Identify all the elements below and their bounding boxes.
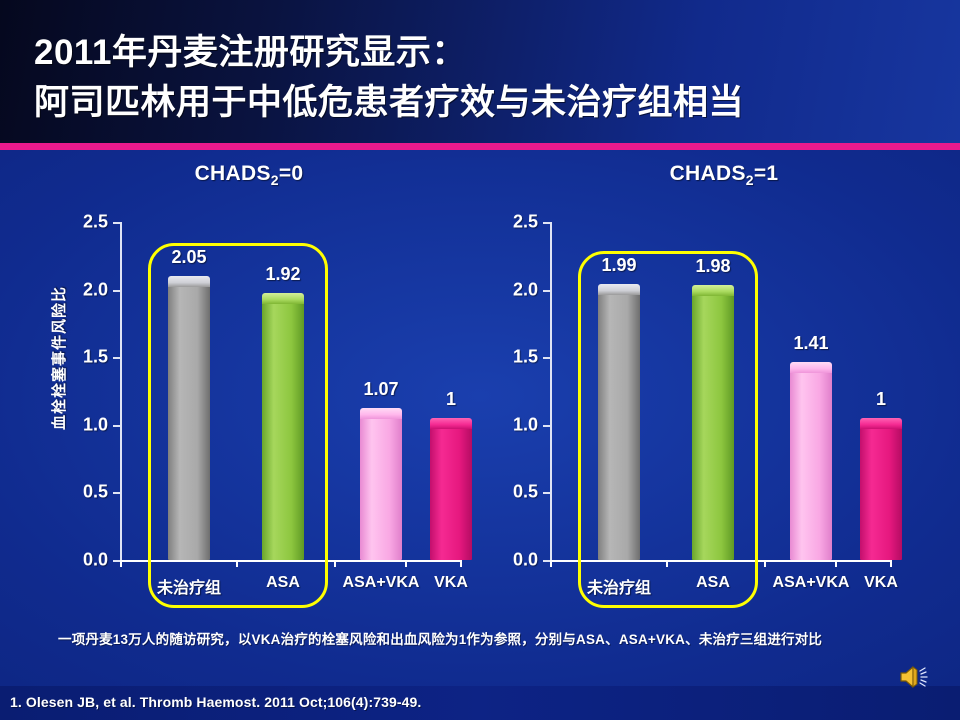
x-axis-tick [120,560,122,567]
x-axis-tick [236,560,238,567]
bar-cap [790,362,832,373]
y-axis-tick [543,560,550,562]
x-axis-line [550,560,890,562]
y-axis-tick-label: 0.0 [513,550,538,571]
x-axis-tick [460,560,462,567]
y-axis-tick-label: 0.5 [513,482,538,503]
chart-panel-chads0: CHADS2=0 血栓栓塞事件风险比 0.00.51.01.52.02.52.0… [10,150,488,625]
bar-cap [430,418,472,429]
y-axis-tick-label: 2.5 [513,212,538,233]
y-axis-tick-label: 2.0 [83,279,108,300]
bar-cap [360,408,402,419]
x-axis-category-label: ASA [266,574,300,592]
y-axis-tick [543,425,550,427]
x-axis-tick [550,560,552,567]
chart-title-subscript: 2 [271,172,279,188]
y-axis-tick [113,492,120,494]
x-axis-category-label: ASA [696,574,730,592]
x-axis-category-label: VKA [434,574,468,592]
x-axis-tick [764,560,766,567]
y-axis-tick [113,222,120,224]
x-axis-category-label: 未治疗组 [157,574,221,598]
chart-title-subscript: 2 [746,172,754,188]
y-axis-tick [543,222,550,224]
chart-title-tail: =0 [279,162,304,185]
bar-cap [262,293,304,304]
slide-canvas: 2011年丹麦注册研究显示： 阿司匹林用于中低危患者疗效与未治疗组相当 CHAD… [0,0,960,720]
y-axis-tick [113,357,120,359]
bar-chads1-2: 1.41 [790,369,832,560]
bar-value-label: 1.41 [793,333,828,354]
plot-area-chads0: 0.00.51.01.52.02.52.05未治疗组1.92ASA1.07ASA… [120,222,460,560]
chart-title-main: CHADS [670,162,746,185]
y-axis-tick [543,357,550,359]
header-divider [0,143,960,150]
chart-panel-chads1: CHADS2=1 血栓栓塞事件风险比 0.00.51.01.52.02.51.9… [488,150,960,625]
plot-area-chads1: 0.00.51.01.52.02.51.99未治疗组1.98ASA1.41ASA… [550,222,890,560]
bar-chads0-3: 1 [430,425,472,560]
x-axis-category-label: 未治疗组 [587,574,651,598]
bar-value-label: 1 [876,389,886,410]
y-axis-tick-label: 1.0 [83,414,108,435]
x-axis-tick [334,560,336,567]
bar-chads0-1: 1.92 [262,300,304,560]
x-axis-category-label: ASA+VKA [343,574,420,592]
slide-header: 2011年丹麦注册研究显示： 阿司匹林用于中低危患者疗效与未治疗组相当 [0,0,960,144]
y-axis-tick-label: 0.5 [83,482,108,503]
x-axis-tick [835,560,837,567]
y-axis-tick-label: 1.5 [513,347,538,368]
chart-title-chads0: CHADS2=0 [10,162,488,188]
y-axis-tick [113,290,120,292]
chart-title-tail: =1 [754,162,779,185]
y-axis-tick [113,425,120,427]
bar-value-label: 1.07 [363,379,398,400]
y-axis-tick-label: 1.0 [513,414,538,435]
bar-chads1-1: 1.98 [692,292,734,560]
x-axis-category-label: VKA [864,574,898,592]
speaker-icon[interactable] [898,662,932,692]
bar-value-label: 1.98 [695,256,730,277]
x-axis-tick [405,560,407,567]
x-axis-tick [666,560,668,567]
bar-value-label: 1.92 [265,264,300,285]
bar-cap [168,276,210,287]
bar-value-label: 1.99 [601,255,636,276]
bar-chads1-0: 1.99 [598,291,640,560]
bar-cap [860,418,902,429]
bar-value-label: 2.05 [171,247,206,268]
chart-title-main: CHADS [195,162,271,185]
page-title: 2011年丹麦注册研究显示： 阿司匹林用于中低危患者疗效与未治疗组相当 [34,28,934,127]
bar-chads1-3: 1 [860,425,902,560]
y-axis-tick [543,290,550,292]
y-axis-title-chads0: 血栓栓塞事件风险比 [48,286,69,430]
x-axis-line [120,560,460,562]
y-axis-tick-label: 0.0 [83,550,108,571]
y-axis-tick-label: 1.5 [83,347,108,368]
y-axis-tick-label: 2.5 [83,212,108,233]
y-axis-line [120,222,122,560]
caption-text: 一项丹麦13万人的随访研究，以VKA治疗的栓塞风险和出血风险为1作为参照，分别与… [58,630,918,651]
y-axis-tick [543,492,550,494]
x-axis-category-label: ASA+VKA [773,574,850,592]
chart-title-chads1: CHADS2=1 [488,162,960,188]
bar-chads0-0: 2.05 [168,283,210,560]
bar-cap [692,285,734,296]
bar-value-label: 1 [446,389,456,410]
citation-text: 1. Olesen JB, et al. Thromb Haemost. 201… [10,694,421,710]
y-axis-line [550,222,552,560]
bar-chads0-2: 1.07 [360,415,402,560]
y-axis-tick [113,560,120,562]
x-axis-tick [890,560,892,567]
bar-cap [598,284,640,295]
y-axis-tick-label: 2.0 [513,279,538,300]
